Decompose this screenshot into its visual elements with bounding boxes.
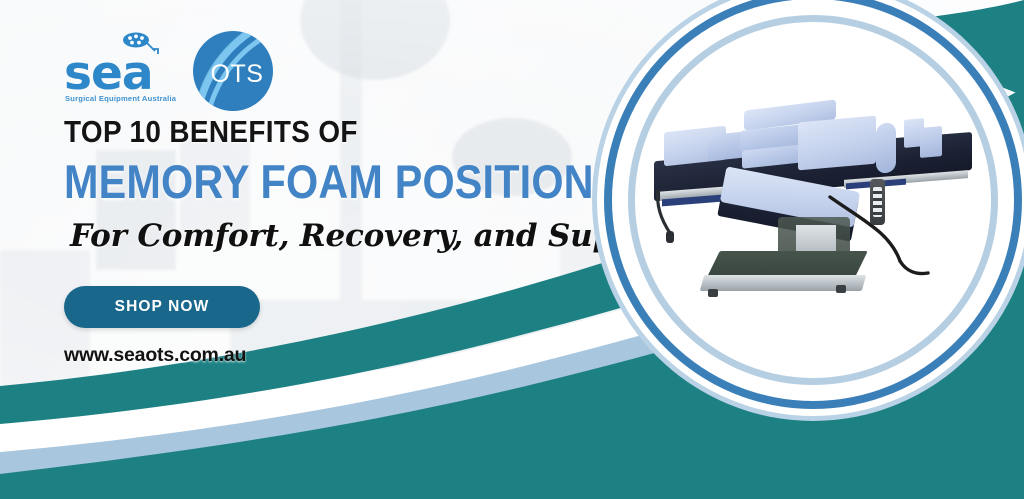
- promo-banner: sea Surgical Equipment Australia OTS TOP…: [0, 0, 1024, 499]
- foam-positioner-large-pad: [798, 116, 876, 171]
- sea-logo[interactable]: sea Surgical Equipment Australia: [64, 34, 176, 108]
- logo-row: sea Surgical Equipment Australia OTS: [64, 28, 276, 114]
- side-accessory-handle: [648, 187, 692, 247]
- hand-control-buttons: [873, 187, 882, 217]
- shop-now-button[interactable]: SHOP NOW: [64, 286, 260, 328]
- website-url[interactable]: www.seaots.com.au: [64, 344, 246, 367]
- table-caster-left: [708, 289, 718, 297]
- table-caster-right: [836, 285, 846, 293]
- sea-wordmark: sea: [64, 50, 153, 97]
- kicker-text: TOP 10 BENEFITS OF: [64, 116, 693, 147]
- ots-logo[interactable]: OTS: [190, 28, 276, 114]
- page-title: MEMORY FOAM POSITIONERS: [64, 158, 679, 205]
- sea-tagline: Surgical Equipment Australia: [65, 94, 176, 103]
- ots-circle-icon: OTS: [190, 28, 276, 114]
- foam-positioner-roll: [876, 122, 896, 174]
- svg-text:OTS: OTS: [211, 60, 264, 88]
- product-image-circle[interactable]: [619, 6, 1007, 394]
- operating-table-illustration: [648, 75, 978, 325]
- foam-positioner-step-block-2: [920, 126, 942, 158]
